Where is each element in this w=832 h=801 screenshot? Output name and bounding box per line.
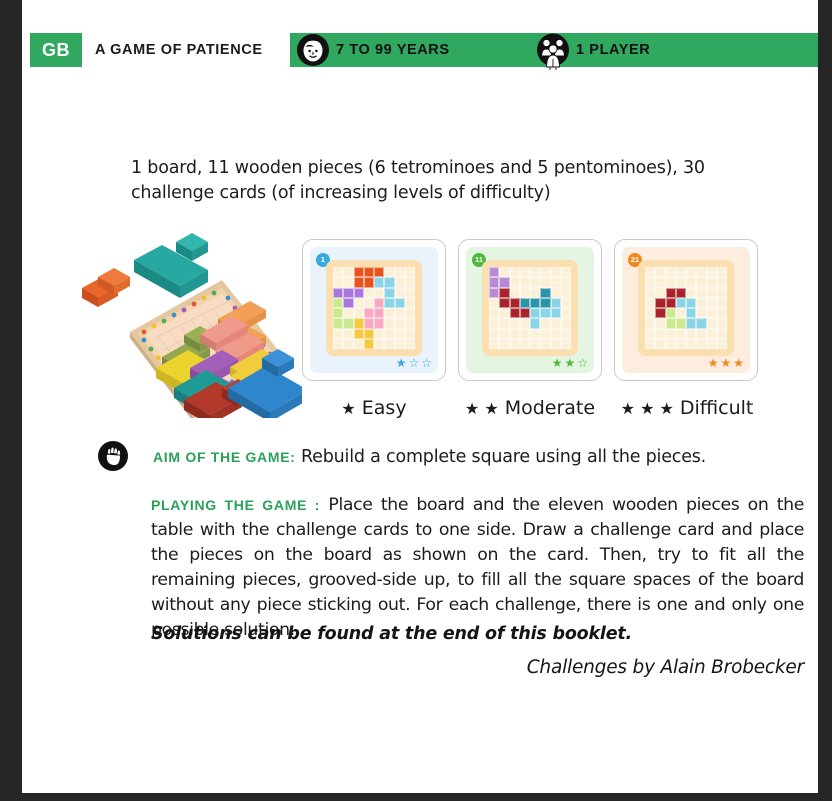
grid-cell [510,267,520,277]
grid-cell [551,298,561,308]
star-icon: ★ [396,357,407,369]
grid-cell [530,277,540,287]
grid-cell [510,298,520,308]
header-title: A GAME OF PATIENCE [95,33,263,67]
grid-cell [561,277,571,287]
grid-cell [676,267,686,277]
grid-cell [696,329,706,339]
grid-cell [645,298,655,308]
grid-cell [561,288,571,298]
grid-cell [333,329,343,339]
grid-cell [489,298,499,308]
grid-cell [707,339,717,349]
grid-cell [666,298,676,308]
grid-cell [384,318,394,328]
grid-cell [405,308,415,318]
grid-cell [707,277,717,287]
grid-cell [489,288,499,298]
grid-cell [540,267,550,277]
grid-cell [343,267,353,277]
grid-cell [384,308,394,318]
players-group-icon [537,34,569,66]
grid-cell [374,277,384,287]
challenge-card-easy[interactable]: 1 ★☆☆ [302,239,446,381]
grid-cell [666,308,676,318]
grid-cell [405,288,415,298]
child-face-icon [297,34,329,66]
grid-cell [686,318,696,328]
difficulty-label-moderate: ★ ★ Moderate [456,396,604,420]
grid-cell [666,329,676,339]
grid-cell [540,298,550,308]
difficulty-stars: ★ ★ [465,399,499,418]
grid-cell [530,329,540,339]
grid-cell [717,308,727,318]
grid-cell [499,329,509,339]
grid-cell [520,288,530,298]
grid-cell [645,318,655,328]
grid-cell [343,318,353,328]
grid-cell [333,298,343,308]
playing-heading: PLAYING THE GAME : [151,497,320,513]
grid-cell [551,318,561,328]
grid-cell [384,267,394,277]
player-count-label: 1 PLAYER [576,42,650,58]
player-count-item: 1 PLAYER [537,33,650,67]
grid-cell [551,288,561,298]
grid-cell [686,267,696,277]
grid-cell [520,298,530,308]
age-range-item: 7 TO 99 YEARS [297,33,450,67]
grid-cell [395,308,405,318]
grid-cell [510,308,520,318]
grid-cell [666,267,676,277]
grid-cell [676,298,686,308]
booklet-page: GB A GAME OF PATIENCE 7 TO 99 YEARS [22,0,818,793]
challenge-card-difficult[interactable]: 21 ★★★ [614,239,758,381]
grid-cell [354,267,364,277]
grid-cell [717,288,727,298]
grid-cell [520,318,530,328]
grid-cell [707,308,717,318]
card-star-rating: ★★★ [708,357,744,369]
grid-cell [520,267,530,277]
grid-cell [707,329,717,339]
grid-cell [374,339,384,349]
grid-cell [717,277,727,287]
grid-cell [686,277,696,287]
grid-cell [395,288,405,298]
grid-cell [374,329,384,339]
grid-cell [343,339,353,349]
grid-cell [696,277,706,287]
grid-cell [405,329,415,339]
grid-cell [499,277,509,287]
locale-code-badge: GB [30,33,82,67]
credit-line: Challenges by Alain Brobecker [151,657,804,678]
grid-cell [655,339,665,349]
grid-cell [364,308,374,318]
grid-cell [520,339,530,349]
card-grid [333,267,415,349]
card-board [482,260,578,356]
grid-cell [520,308,530,318]
grid-cell [530,288,540,298]
grid-cell [333,288,343,298]
grid-cell [499,308,509,318]
grid-cell [655,308,665,318]
difficulty-label-easy: ★ Easy [300,396,448,420]
aim-body: Rebuild a complete square using all the … [296,447,706,467]
grid-cell [395,298,405,308]
card-inner: 21 ★★★ [622,247,750,373]
grid-cell [354,339,364,349]
grid-cell [499,298,509,308]
grid-cell [676,318,686,328]
card-star-rating: ★★☆ [552,357,588,369]
grid-cell [707,288,717,298]
grid-cell [364,277,374,287]
star-icon: ★ [708,357,719,369]
grid-cell [686,288,696,298]
card-star-rating: ★☆☆ [396,357,432,369]
grid-cell [333,308,343,318]
grid-cell [561,267,571,277]
grid-cell [717,298,727,308]
grid-cell [343,329,353,339]
grid-cell [561,339,571,349]
grid-cell [696,298,706,308]
grid-cell [489,308,499,318]
grid-cell [676,277,686,287]
grid-cell [395,339,405,349]
grid-cell [666,288,676,298]
card-inner: 11 ★★☆ [466,247,594,373]
grid-cell [499,339,509,349]
grid-cell [354,298,364,308]
card-board [638,260,734,356]
grid-cell [354,288,364,298]
grid-cell [540,339,550,349]
grid-cell [405,318,415,328]
star-icon: ★ [720,357,731,369]
grid-cell [707,298,717,308]
card-board [326,260,422,356]
grid-cell [384,288,394,298]
grid-cell [333,277,343,287]
star-icon: ☆ [408,357,419,369]
grid-cell [374,318,384,328]
solutions-note: Solutions can be found at the end of thi… [151,624,804,644]
grid-cell [551,277,561,287]
grid-cell [364,298,374,308]
star-icon: ★ [733,357,744,369]
grid-cell [364,267,374,277]
grid-cell [686,329,696,339]
grid-cell [364,339,374,349]
grid-cell [540,318,550,328]
difficulty-text: Easy [362,397,407,419]
grid-cell [384,277,394,287]
wooden-puzzle-board-photo [72,228,302,418]
grid-cell [561,308,571,318]
grid-cell [530,339,540,349]
grid-cell [530,308,540,318]
grid-cell [354,318,364,328]
grid-cell [676,308,686,318]
grid-cell [707,318,717,328]
grid-cell [717,318,727,328]
contents-intro-text: 1 board, 11 wooden pieces (6 tetrominoes… [131,156,786,206]
grid-cell [510,329,520,339]
grid-cell [384,339,394,349]
grid-cell [489,339,499,349]
grid-cell [395,329,405,339]
grid-cell [405,267,415,277]
grid-cell [717,339,727,349]
grid-cell [655,298,665,308]
grid-cell [333,318,343,328]
card-inner: 1 ★☆☆ [310,247,438,373]
grid-cell [655,329,665,339]
hand-holding-piece-icon [98,441,128,471]
grid-cell [520,329,530,339]
grid-cell [645,329,655,339]
grid-cell [384,329,394,339]
grid-cell [551,329,561,339]
grid-cell [405,298,415,308]
grid-cell [676,288,686,298]
grid-cell [343,277,353,287]
grid-cell [717,329,727,339]
grid-cell [384,298,394,308]
challenge-card-moderate[interactable]: 11 ★★☆ [458,239,602,381]
difficulty-text: Difficult [680,397,754,419]
difficulty-stars: ★ [341,399,355,418]
grid-cell [510,277,520,287]
grid-cell [489,329,499,339]
grid-cell [540,277,550,287]
grid-cell [520,277,530,287]
grid-cell [510,288,520,298]
grid-cell [666,339,676,349]
grid-cell [374,298,384,308]
grid-cell [551,267,561,277]
grid-cell [696,267,706,277]
grid-cell [717,267,727,277]
aim-heading: AIM OF THE GAME: [153,449,296,465]
grid-cell [510,339,520,349]
grid-cell [707,267,717,277]
grid-cell [489,267,499,277]
grid-cell [540,308,550,318]
grid-cell [395,318,405,328]
grid-cell [686,308,696,318]
grid-cell [540,288,550,298]
grid-cell [696,318,706,328]
card-grid [489,267,571,349]
grid-cell [333,267,343,277]
grid-cell [696,339,706,349]
grid-cell [364,318,374,328]
grid-cell [364,329,374,339]
grid-cell [395,267,405,277]
grid-cell [561,318,571,328]
grid-cell [645,308,655,318]
grid-cell [645,288,655,298]
age-range-label: 7 TO 99 YEARS [336,42,450,58]
grid-cell [561,298,571,308]
grid-cell [374,288,384,298]
star-icon: ☆ [577,357,588,369]
grid-cell [530,298,540,308]
grid-cell [530,318,540,328]
grid-cell [489,318,499,328]
grid-cell [561,329,571,339]
difficulty-text: Moderate [505,397,595,419]
grid-cell [374,308,384,318]
grid-cell [510,318,520,328]
grid-cell [666,318,676,328]
star-icon: ★ [552,357,563,369]
grid-cell [343,298,353,308]
grid-cell [354,329,364,339]
grid-cell [696,288,706,298]
grid-cell [645,267,655,277]
grid-cell [489,277,499,287]
aim-of-the-game: AIM OF THE GAME: Rebuild a complete squa… [153,445,793,470]
playing-the-game: PLAYING THE GAME : Place the board and t… [151,493,804,642]
card-grid [645,267,727,349]
grid-cell [395,277,405,287]
playing-body: Place the board and the eleven wooden pi… [151,495,804,640]
grid-cell [343,308,353,318]
grid-cell [405,339,415,349]
grid-cell [666,277,676,287]
grid-cell [645,277,655,287]
grid-cell [655,267,665,277]
grid-cell [645,339,655,349]
header-band: GB A GAME OF PATIENCE 7 TO 99 YEARS [22,33,818,67]
grid-cell [343,288,353,298]
grid-cell [655,288,665,298]
grid-cell [354,277,364,287]
grid-cell [655,318,665,328]
star-icon: ★ [564,357,575,369]
grid-cell [655,277,665,287]
difficulty-label-difficult: ★ ★ ★ Difficult [612,396,762,420]
grid-cell [676,339,686,349]
grid-cell [333,339,343,349]
grid-cell [499,318,509,328]
grid-cell [364,288,374,298]
difficulty-stars: ★ ★ ★ [621,399,674,418]
grid-cell [374,267,384,277]
grid-cell [686,298,696,308]
grid-cell [676,329,686,339]
grid-cell [530,267,540,277]
grid-cell [499,267,509,277]
grid-cell [551,339,561,349]
grid-cell [354,308,364,318]
grid-cell [499,288,509,298]
grid-cell [696,308,706,318]
grid-cell [405,277,415,287]
grid-cell [686,339,696,349]
star-icon: ☆ [421,357,432,369]
grid-cell [540,329,550,339]
grid-cell [551,308,561,318]
